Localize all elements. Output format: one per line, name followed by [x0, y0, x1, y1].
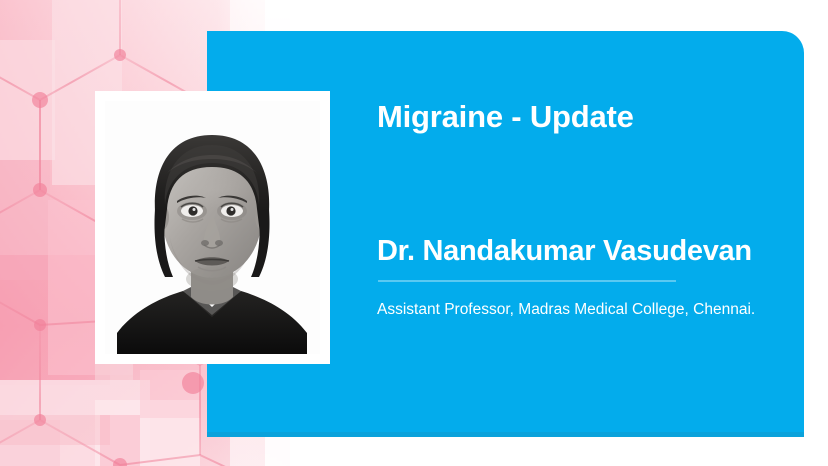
portrait-frame [95, 91, 330, 364]
portrait-photo [105, 101, 320, 354]
title-block: Migraine - Update [377, 100, 797, 134]
blue-panel-bottom-edge [207, 432, 804, 437]
portrait-illustration [105, 101, 320, 354]
presentation-title-slide: Migraine - Update Dr. Nandakumar Vasudev… [0, 0, 828, 466]
speaker-affiliation: Assistant Professor, Madras Medical Coll… [377, 300, 777, 321]
page-title: Migraine - Update [377, 100, 797, 134]
speaker-name: Dr. Nandakumar Vasudevan [377, 236, 807, 268]
divider [378, 280, 676, 282]
